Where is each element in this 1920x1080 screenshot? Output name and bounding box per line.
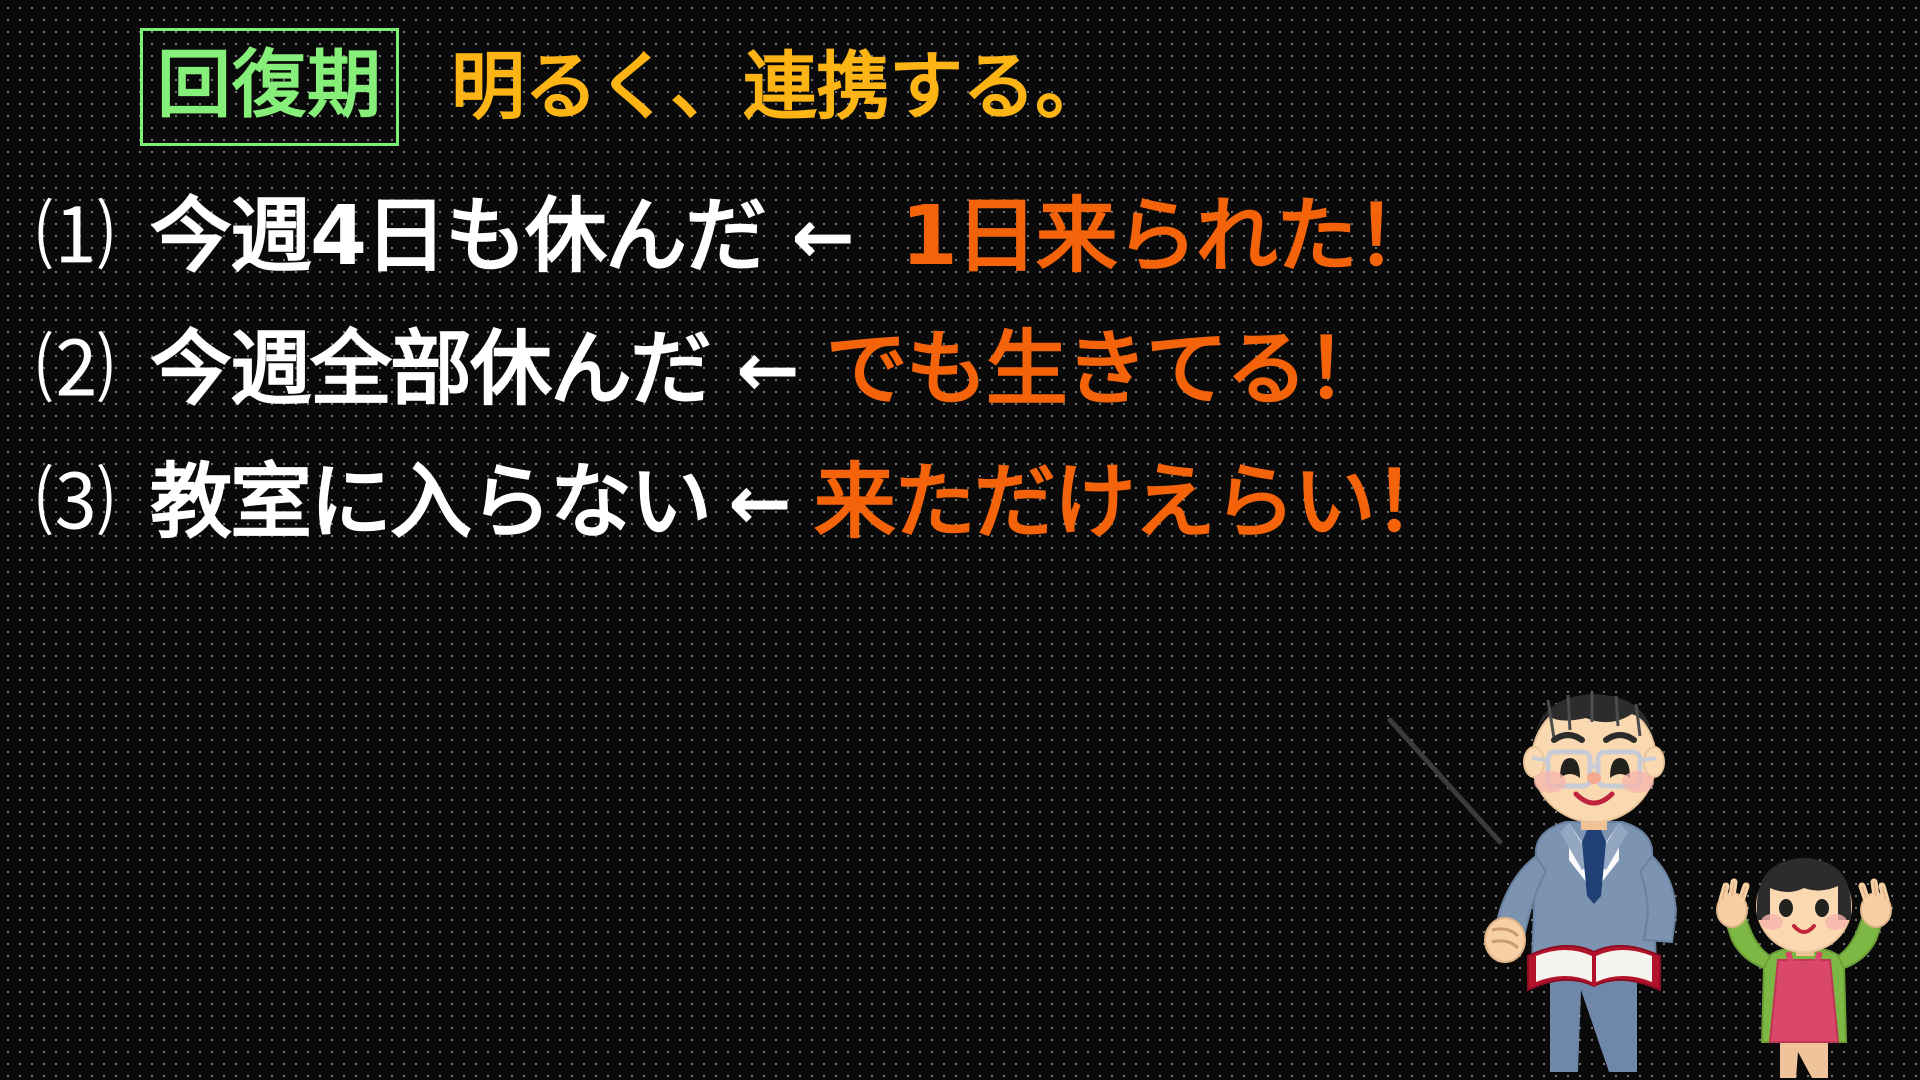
statement-list: ⑴ 今週4日も休んだ ← 1日来られた！ ⑵ 今週全部休んだ ← でも生きてる！… bbox=[0, 170, 1920, 569]
phase-tag-box: 回復期 bbox=[140, 28, 399, 146]
student-hair bbox=[1757, 858, 1851, 920]
teacher-necktie bbox=[1582, 830, 1606, 904]
glasses-icon bbox=[1532, 752, 1656, 786]
hand-detail bbox=[1492, 929, 1518, 936]
teacher-head bbox=[1532, 698, 1656, 822]
teacher-arm-right bbox=[1640, 856, 1676, 942]
student-head bbox=[1757, 860, 1851, 952]
list-item: ⑴ 今週4日も休んだ ← 1日来られた！ bbox=[0, 170, 1920, 303]
student-mouth bbox=[1794, 926, 1814, 932]
teacher-eye-left bbox=[1560, 758, 1580, 778]
student-cheek-right bbox=[1825, 914, 1847, 930]
arrow-left-icon: ← bbox=[728, 465, 792, 541]
list-item-number: ⑴ bbox=[0, 198, 150, 276]
list-item: ⑵ 今週全部休んだ ← でも生きてる！ bbox=[0, 303, 1920, 436]
teacher-mouth bbox=[1576, 794, 1612, 803]
student-eye-right bbox=[1815, 899, 1829, 917]
eyebrow-right bbox=[1606, 735, 1634, 740]
eyebrow-left bbox=[1554, 735, 1582, 740]
teacher-hand-left bbox=[1485, 918, 1525, 962]
student-apron bbox=[1770, 960, 1838, 1042]
header-bar: 回復期 明るく、連携する。 bbox=[0, 22, 1920, 152]
hair-strands bbox=[1548, 693, 1640, 738]
phase-tag-label: 回復期 bbox=[157, 48, 382, 122]
teacher-hip bbox=[1550, 960, 1637, 976]
student-eye-left bbox=[1779, 899, 1793, 917]
teacher-figure bbox=[1390, 693, 1676, 1072]
list-item-number: ⑵ bbox=[0, 331, 150, 409]
teacher-jacket bbox=[1532, 822, 1656, 966]
student-legs bbox=[1780, 1038, 1828, 1078]
list-item-number: ⑶ bbox=[0, 464, 150, 542]
student-neck bbox=[1796, 936, 1814, 956]
teacher-ear-right bbox=[1644, 747, 1664, 777]
student-bangs bbox=[1762, 864, 1846, 884]
list-item: ⑶ 教室に入らない ← 来ただけえらい！ bbox=[0, 436, 1920, 569]
arrow-left-icon: ← bbox=[736, 332, 800, 408]
page-title: 明るく、連携する。 bbox=[451, 50, 1108, 124]
student-shirt bbox=[1762, 950, 1846, 1042]
list-item-response: 1日来られた！ bbox=[901, 196, 1436, 278]
teacher-legs bbox=[1550, 960, 1637, 1072]
teacher-lapel-left bbox=[1560, 823, 1594, 870]
teacher-ear-left bbox=[1524, 747, 1544, 777]
arrow-left-icon: ← bbox=[791, 199, 855, 275]
list-item-response: 来ただけえらい！ bbox=[814, 462, 1454, 544]
student-figure bbox=[1717, 858, 1891, 1078]
teacher-hair bbox=[1534, 694, 1654, 744]
hand-detail bbox=[1492, 941, 1518, 948]
teacher-shirt bbox=[1569, 823, 1619, 892]
student-arm-left bbox=[1726, 914, 1770, 968]
teacher-nose bbox=[1587, 772, 1601, 784]
teacher-arm-left bbox=[1494, 856, 1546, 944]
list-item-problem: 教室に入らない bbox=[150, 462, 710, 544]
list-item-response: でも生きてる！ bbox=[826, 329, 1386, 411]
cheek-left bbox=[1534, 771, 1566, 793]
list-item-problem: 今週4日も休んだ bbox=[150, 196, 765, 278]
cheek-right bbox=[1622, 771, 1654, 793]
teacher-eye-right bbox=[1610, 758, 1630, 778]
list-item-problem: 今週全部休んだ bbox=[150, 329, 710, 411]
pointer-stick-icon bbox=[1390, 720, 1500, 842]
student-hand-right bbox=[1861, 882, 1891, 927]
teacher-neck bbox=[1581, 802, 1607, 830]
illustration-group bbox=[1360, 660, 1920, 1080]
apron-straps bbox=[1788, 952, 1820, 966]
student-arm-right bbox=[1838, 914, 1882, 968]
student-cheek-left bbox=[1761, 914, 1783, 930]
student-hand-left bbox=[1717, 882, 1747, 927]
red-book-icon bbox=[1528, 946, 1660, 990]
teacher-lapel-right bbox=[1594, 823, 1628, 870]
